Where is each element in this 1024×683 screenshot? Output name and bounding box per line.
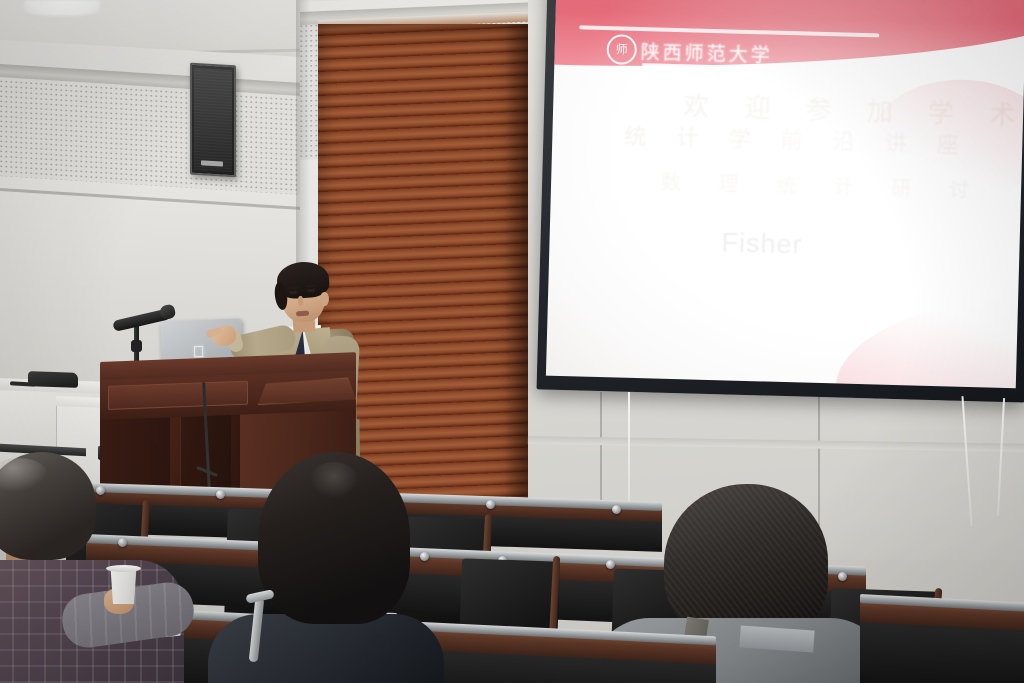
projection-screen-frame: 师 陕西师范大学 报 告 人 学 术 交 流 欢 迎 参 加 学 术 报 告 统… <box>537 0 1024 403</box>
presenter-ear <box>320 292 329 306</box>
wall-speaker <box>190 63 236 178</box>
lecture-hall-photo: 师 陕西师范大学 报 告 人 学 术 交 流 欢 迎 参 加 学 术 报 告 统… <box>0 0 1024 683</box>
presenter-mouth <box>296 311 309 317</box>
back-wall-seam-2 <box>818 386 820 526</box>
slide-visible-word: Fisher <box>721 227 803 260</box>
audience-member-center-hair <box>258 452 410 624</box>
presenter-eye-left <box>289 291 297 295</box>
rail-knob <box>420 552 429 561</box>
projection-screen-surface: 师 陕西师范大学 报 告 人 学 术 交 流 欢 迎 参 加 学 术 报 告 统… <box>546 0 1024 388</box>
audience-left-hair-highlight <box>0 458 48 492</box>
presenter-nose <box>298 296 303 306</box>
presenter-eye-right <box>307 289 315 293</box>
paper-cup-rim <box>106 565 141 572</box>
rail-knob <box>96 486 105 495</box>
audience-member-left-hair <box>0 452 96 560</box>
audience-center-hair-whorl <box>310 462 358 498</box>
ceiling-light <box>24 0 100 16</box>
rail-knob <box>118 538 127 547</box>
slide-corner-accent-bottom <box>834 287 1024 388</box>
rail-knob <box>486 500 495 509</box>
av-device <box>28 371 78 388</box>
speaker-grille <box>194 68 232 172</box>
audience-member-center <box>208 614 444 683</box>
paper-cup <box>108 567 139 604</box>
rail-knob <box>612 505 621 514</box>
microphone-joint <box>131 340 142 352</box>
rail-knob <box>216 490 225 499</box>
rail-knob <box>838 572 847 581</box>
rail-knob <box>606 560 615 569</box>
